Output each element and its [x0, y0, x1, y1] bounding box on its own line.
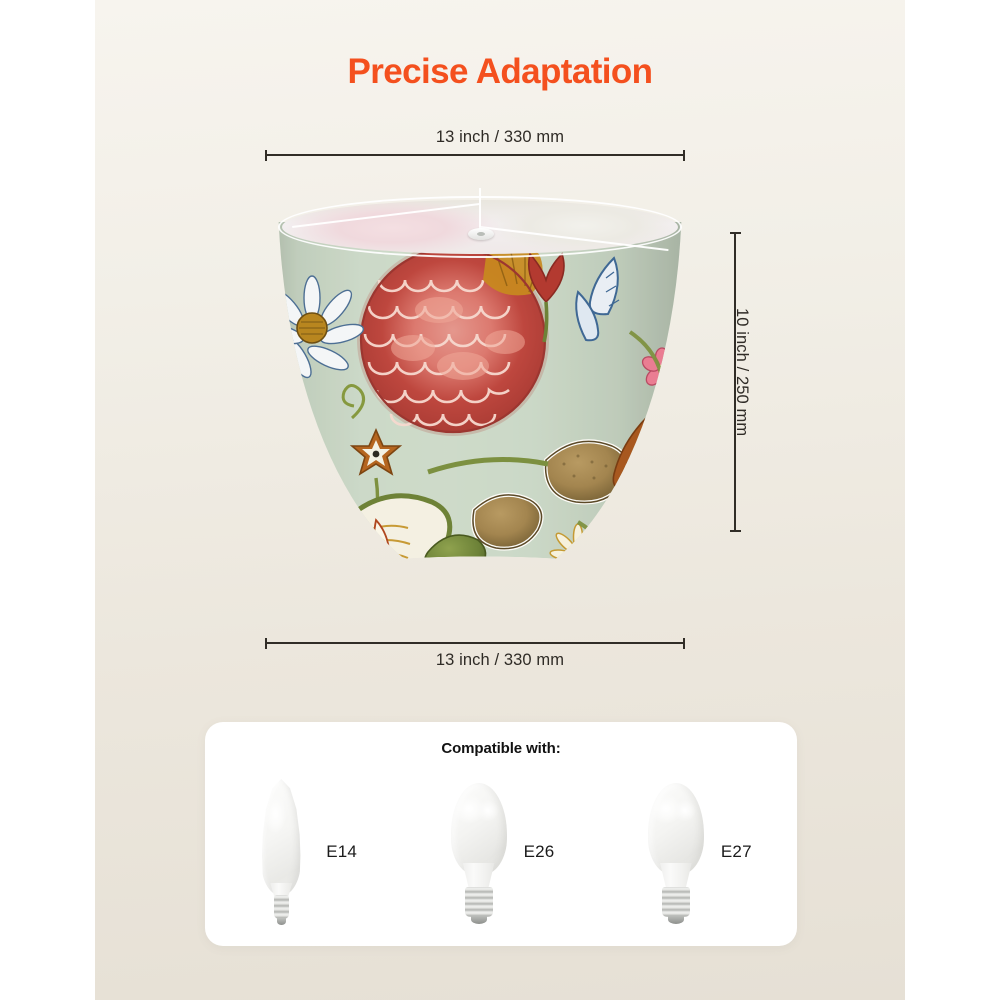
candle-bulb-icon [250, 779, 312, 925]
bulb-glass [261, 779, 301, 895]
dimension-end-cap-right [683, 638, 685, 649]
bulb-contact-tip [471, 915, 487, 924]
standard-bulb-icon [645, 779, 707, 925]
infographic-canvas: Precise Adaptation 13 inch / 330 mm [0, 0, 1000, 1000]
spider-fitter-hub [468, 228, 494, 240]
bulb-contact-tip [668, 915, 684, 924]
top-dimension-label: 13 inch / 330 mm [95, 128, 905, 147]
content-panel: Precise Adaptation 13 inch / 330 mm [95, 0, 905, 1000]
side-dimension-label: 10 inch / 250 mm [732, 308, 751, 436]
bulb-contact-tip [277, 918, 286, 925]
bulb-label-e26: E26 [524, 842, 555, 862]
bulb-screw-base [274, 895, 289, 919]
standard-bulb-icon [448, 779, 510, 925]
page-title: Precise Adaptation [95, 50, 905, 94]
lampshade-image [278, 196, 682, 614]
lampshade-top-opening [278, 196, 682, 258]
floral-pattern [278, 222, 682, 588]
bottom-dimension-label: 13 inch / 330 mm [95, 651, 905, 670]
bulb-glass [648, 783, 704, 875]
bulb-item-e14: E14 [205, 772, 402, 932]
bulb-item-e27: E27 [600, 772, 797, 932]
bulb-list: E14 E26 [205, 772, 797, 932]
bulb-label-e14: E14 [326, 842, 357, 862]
dimension-end-cap-right [683, 150, 685, 161]
compatibility-card: Compatible with: E14 [205, 722, 797, 946]
spider-fitter-stem [479, 188, 481, 230]
dimension-bar [265, 642, 685, 644]
lampshade-fabric-clip [278, 222, 682, 588]
top-dimension-line [265, 150, 685, 160]
bulb-label-e27: E27 [721, 842, 752, 862]
bulb-item-e26: E26 [402, 772, 599, 932]
dimension-bar [265, 154, 685, 156]
dimension-end-cap-bottom [730, 530, 741, 532]
bulb-screw-base [662, 887, 690, 917]
compatibility-heading: Compatible with: [205, 740, 797, 757]
bulb-glass [451, 783, 507, 875]
lampshade-body [278, 222, 682, 588]
bulb-screw-base [465, 887, 493, 917]
bottom-dimension-line [265, 638, 685, 648]
